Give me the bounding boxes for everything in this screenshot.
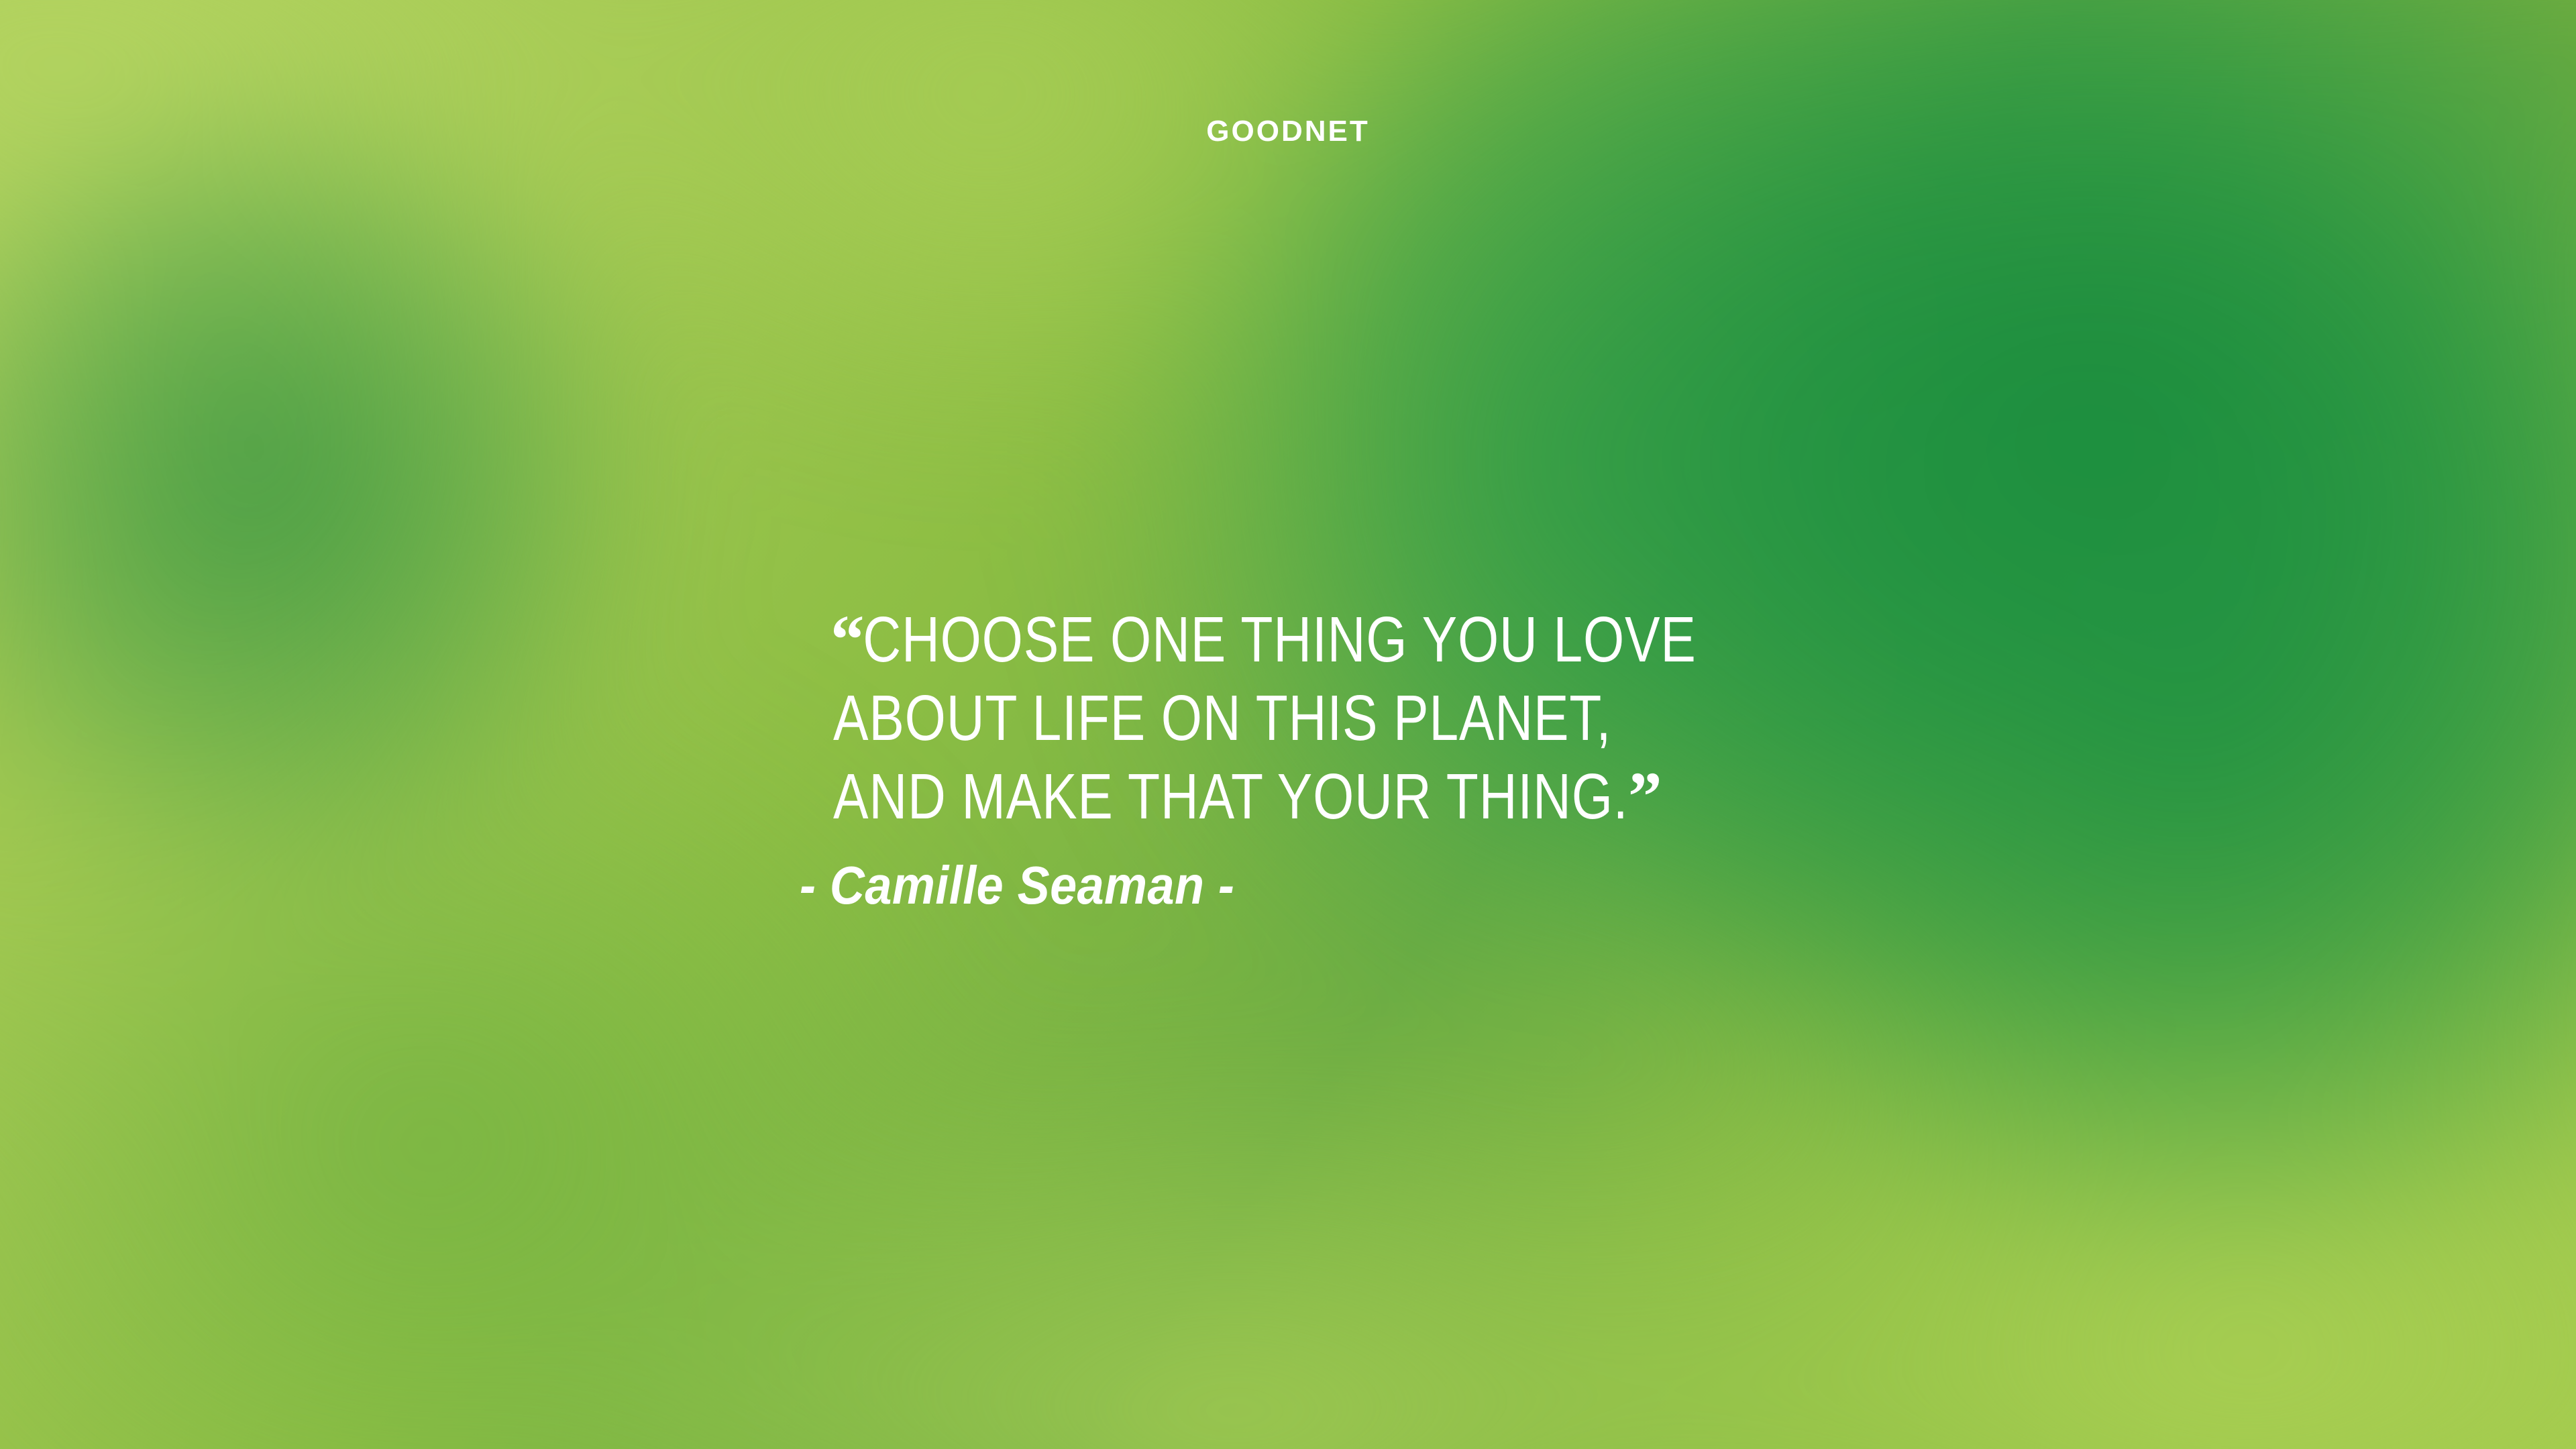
quote-line-2: ABOUT LIFE ON THIS PLANET, xyxy=(833,679,1658,757)
quote-line-3: AND MAKE THAT YOUR THING.” xyxy=(833,757,1658,836)
quote-card-canvas: GOODNET “CHOOSE ONE THING YOU LOVE ABOUT… xyxy=(0,0,2576,1449)
quote-line-3-text: AND MAKE THAT YOUR THING. xyxy=(833,761,1628,833)
quote-line-1: “CHOOSE ONE THING YOU LOVE xyxy=(833,600,1658,679)
open-quotation-mark-icon: “ xyxy=(830,600,864,679)
quote-attribution: - Camille Seaman - xyxy=(800,853,1234,918)
quote-block: “CHOOSE ONE THING YOU LOVE ABOUT LIFE ON… xyxy=(833,600,1839,836)
quote-line-1-text: CHOOSE ONE THING YOU LOVE xyxy=(863,604,1696,676)
quote-line-2-text: ABOUT LIFE ON THIS PLANET, xyxy=(833,682,1611,754)
close-quotation-mark-icon: ” xyxy=(1628,757,1662,836)
goodnet-logo[interactable]: GOODNET xyxy=(0,117,2576,146)
